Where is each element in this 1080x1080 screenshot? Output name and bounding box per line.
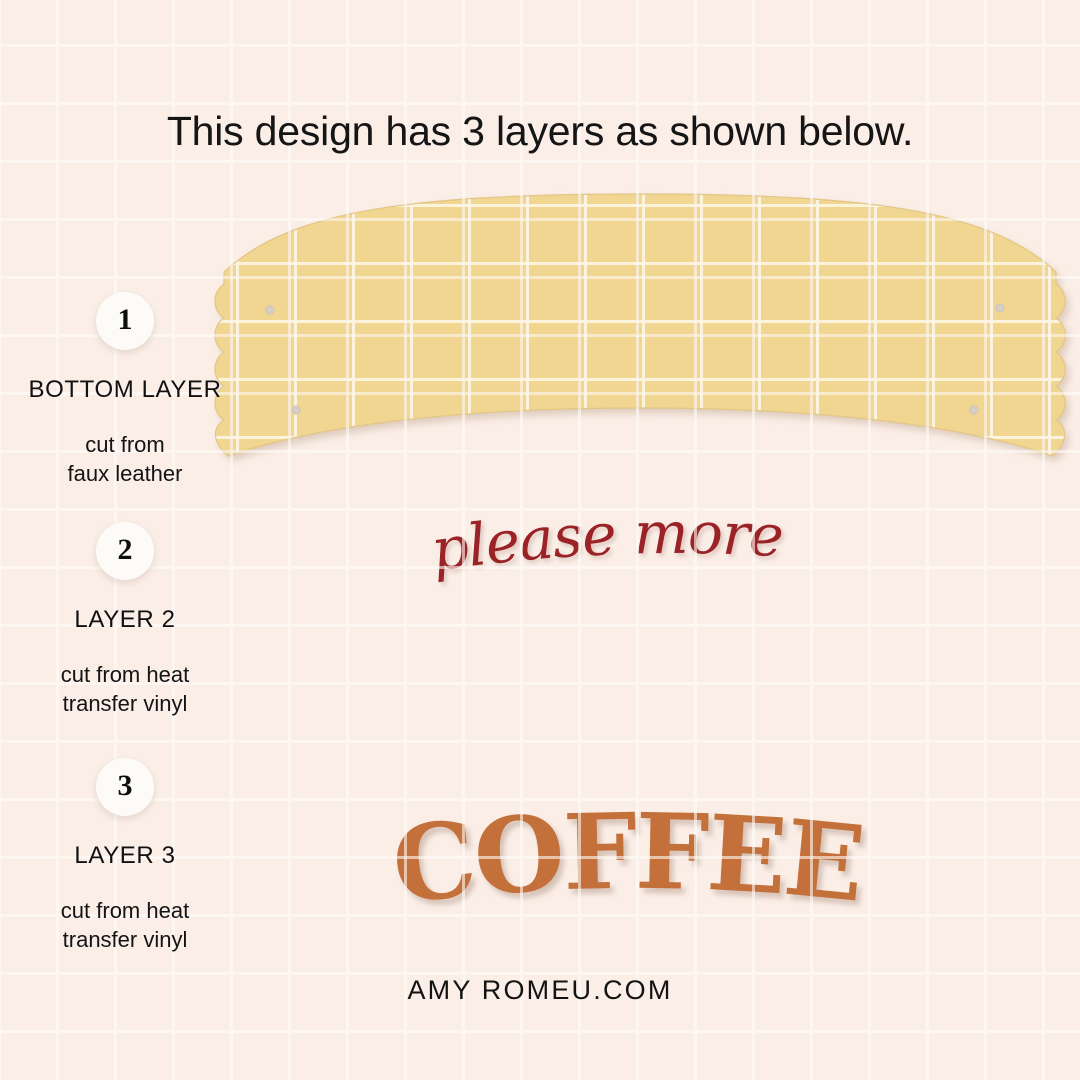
layer-material-1: cut from faux leather [0, 430, 250, 489]
page-title: This design has 3 layers as shown below. [0, 108, 1080, 155]
layer-3-artwork-block-text: COFFEE [385, 795, 885, 920]
layer-material-2-line-2: transfer vinyl [0, 689, 250, 718]
layer-badge-3: 3 [96, 758, 154, 816]
layer-legend-3: 3 LAYER 3 cut from heat transfer vinyl [0, 758, 250, 955]
script-text: please more [427, 499, 784, 585]
layer-material-2-line-1: cut from heat [0, 660, 250, 689]
layer-title-2: LAYER 2 [0, 606, 250, 634]
layer-material-3-line-1: cut from heat [0, 896, 250, 925]
layer-title-1: BOTTOM LAYER [0, 376, 250, 404]
layer-material-1-line-2: faux leather [0, 459, 250, 488]
layer-legend-1: 1 BOTTOM LAYER cut from faux leather [0, 292, 250, 489]
footer-watermark: AMY ROMEU.COM [0, 975, 1080, 1006]
layer-material-2: cut from heat transfer vinyl [0, 660, 250, 719]
sleeve-grid-texture [200, 180, 1080, 490]
layer-legend-2: 2 LAYER 2 cut from heat transfer vinyl [0, 522, 250, 719]
layer-badge-1: 1 [96, 292, 154, 350]
layer-badge-2: 2 [96, 522, 154, 580]
layer-material-3: cut from heat transfer vinyl [0, 896, 250, 955]
layer-material-1-line-1: cut from [0, 430, 250, 459]
coffee-text: COFFEE [387, 790, 867, 928]
layer-material-3-line-2: transfer vinyl [0, 925, 250, 954]
layer-1-artwork-cup-sleeve [200, 180, 1080, 490]
layer-2-artwork-script-text: please more [418, 500, 858, 620]
layer-title-3: LAYER 3 [0, 842, 250, 870]
